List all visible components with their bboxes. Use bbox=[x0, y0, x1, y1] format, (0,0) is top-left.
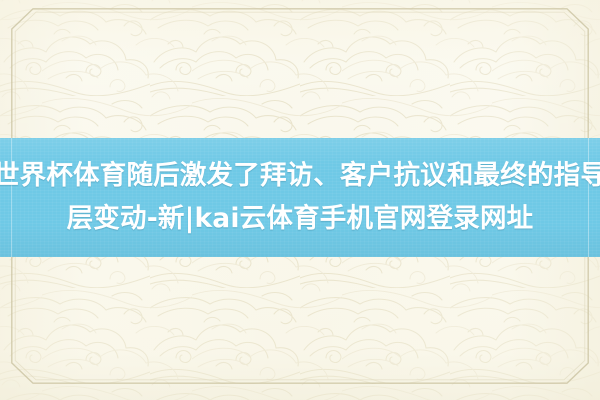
poster-canvas: 世界杯体育随后激发了拜访、客户抗议和最终的指导 层变动-新|kai云体育手机官网… bbox=[0, 0, 600, 400]
headline-line-2: 层变动-新|kai云体育手机官网登录网址 bbox=[67, 199, 534, 239]
headline-banner: 世界杯体育随后激发了拜访、客户抗议和最终的指导 层变动-新|kai云体育手机官网… bbox=[0, 138, 600, 257]
headline-text-block: 世界杯体育随后激发了拜访、客户抗议和最终的指导 层变动-新|kai云体育手机官网… bbox=[0, 138, 600, 257]
headline-line-1: 世界杯体育随后激发了拜访、客户抗议和最终的指导 bbox=[0, 156, 600, 196]
